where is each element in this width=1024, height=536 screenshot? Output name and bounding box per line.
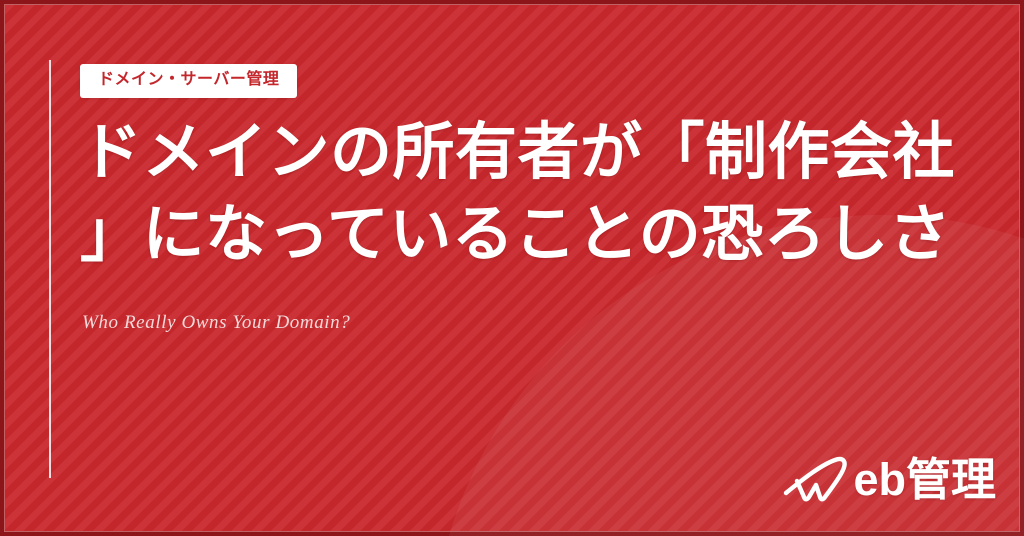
subtitle-english: Who Really Owns Your Domain? — [82, 312, 350, 334]
w-swoosh-icon — [783, 453, 857, 505]
title-line-1: ドメインの所有者が「制作会社 — [80, 112, 970, 194]
title-line-2: 」になっていることの恐ろしさ — [80, 194, 970, 276]
logo-text: eb管理 — [853, 457, 996, 502]
ogp-banner: ドメイン・サーバー管理 ドメインの所有者が「制作会社 」になっていることの恐ろし… — [0, 0, 1024, 536]
page-title: ドメインの所有者が「制作会社 」になっていることの恐ろしさ — [80, 112, 970, 276]
left-accent-rule — [49, 60, 51, 478]
site-logo: eb管理 — [783, 452, 996, 506]
category-badge: ドメイン・サーバー管理 — [80, 64, 297, 98]
